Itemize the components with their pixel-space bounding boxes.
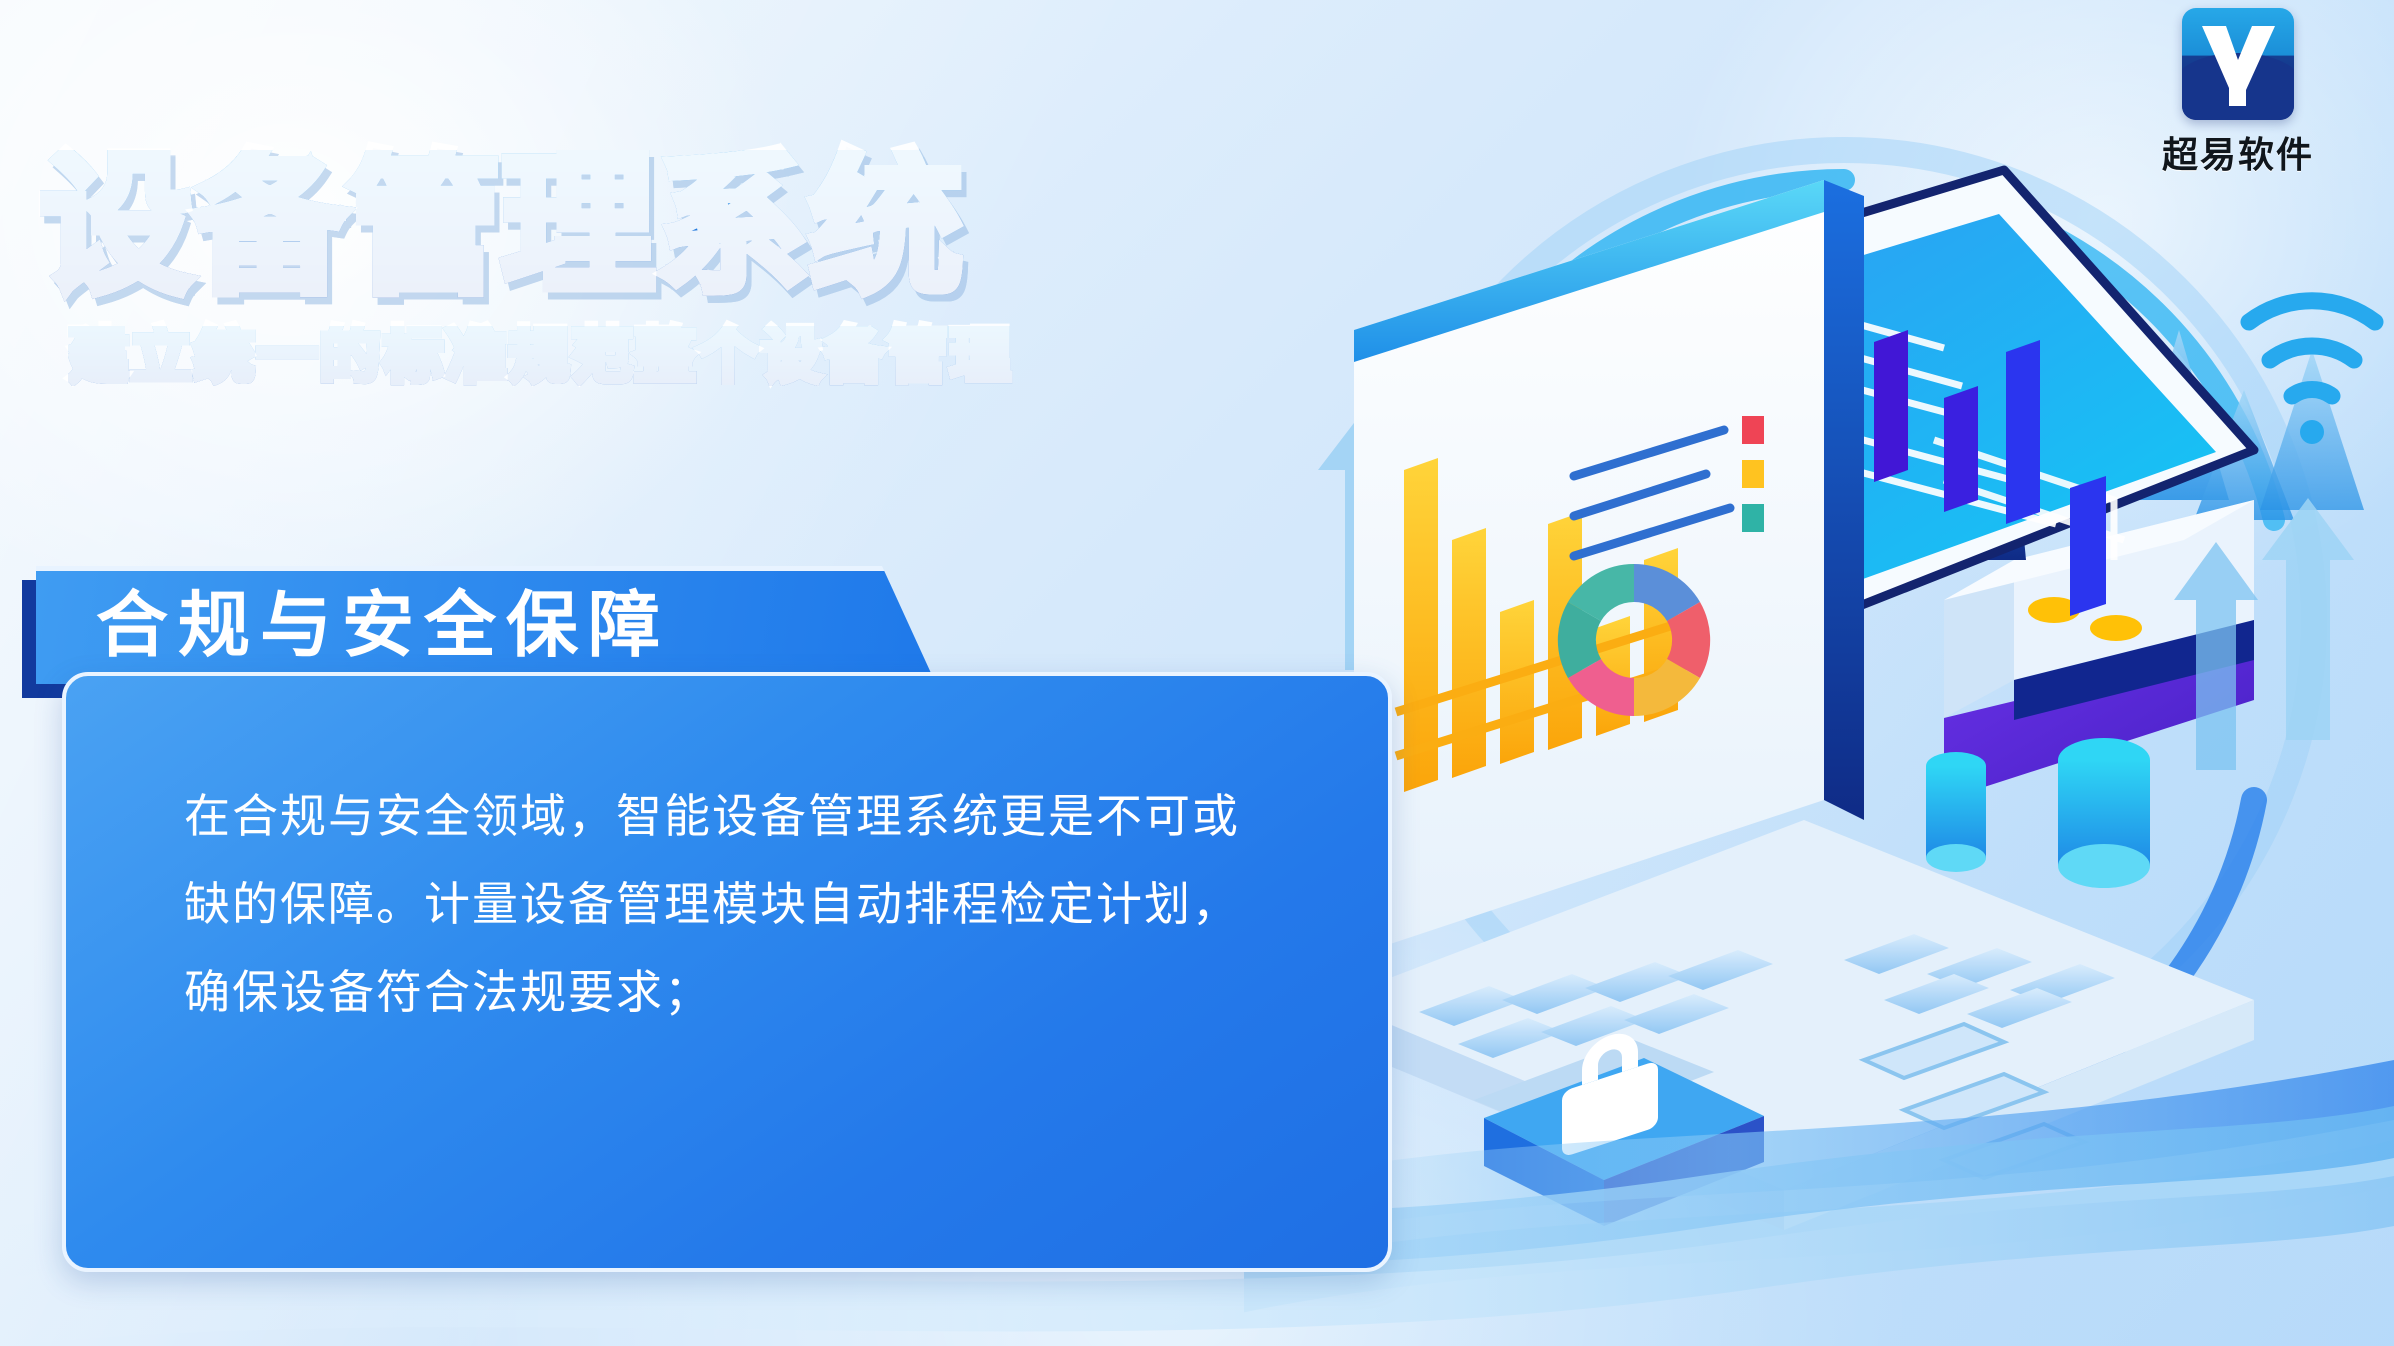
description-text: 在合规与安全领域，智能设备管理系统更是不可或缺的保障。计量设备管理模块自动排程检… (184, 772, 1284, 1036)
wifi-icon (2249, 301, 2375, 396)
up-arrow (2262, 498, 2354, 740)
section-tag-banner: 合规与安全保障 (36, 566, 936, 684)
tag-banner-label: 合规与安全保障 (96, 582, 670, 668)
wifi-dot (2300, 420, 2324, 444)
brand-name: 超易软件 (2138, 126, 2338, 178)
hero-text-block: 设备管理系统 建立统一的标准规范整个设备管理 (40, 150, 1440, 386)
page-title: 设备管理系统 (40, 150, 1440, 302)
poster-canvas: 超易软件 设备管理系统 建立统一的标准规范整个设备管理 合规与安全保障 在合规与… (0, 0, 2394, 1346)
description-card: 在合规与安全领域，智能设备管理系统更是不可或缺的保障。计量设备管理模块自动排程检… (62, 672, 1392, 1272)
logo-letter-y (2182, 8, 2294, 120)
y-logo-icon (2182, 8, 2294, 120)
panel-legend-dots (1742, 416, 1764, 532)
brand-logo: 超易软件 (2138, 8, 2338, 178)
page-subtitle: 建立统一的标准规范整个设备管理 (68, 326, 1440, 386)
